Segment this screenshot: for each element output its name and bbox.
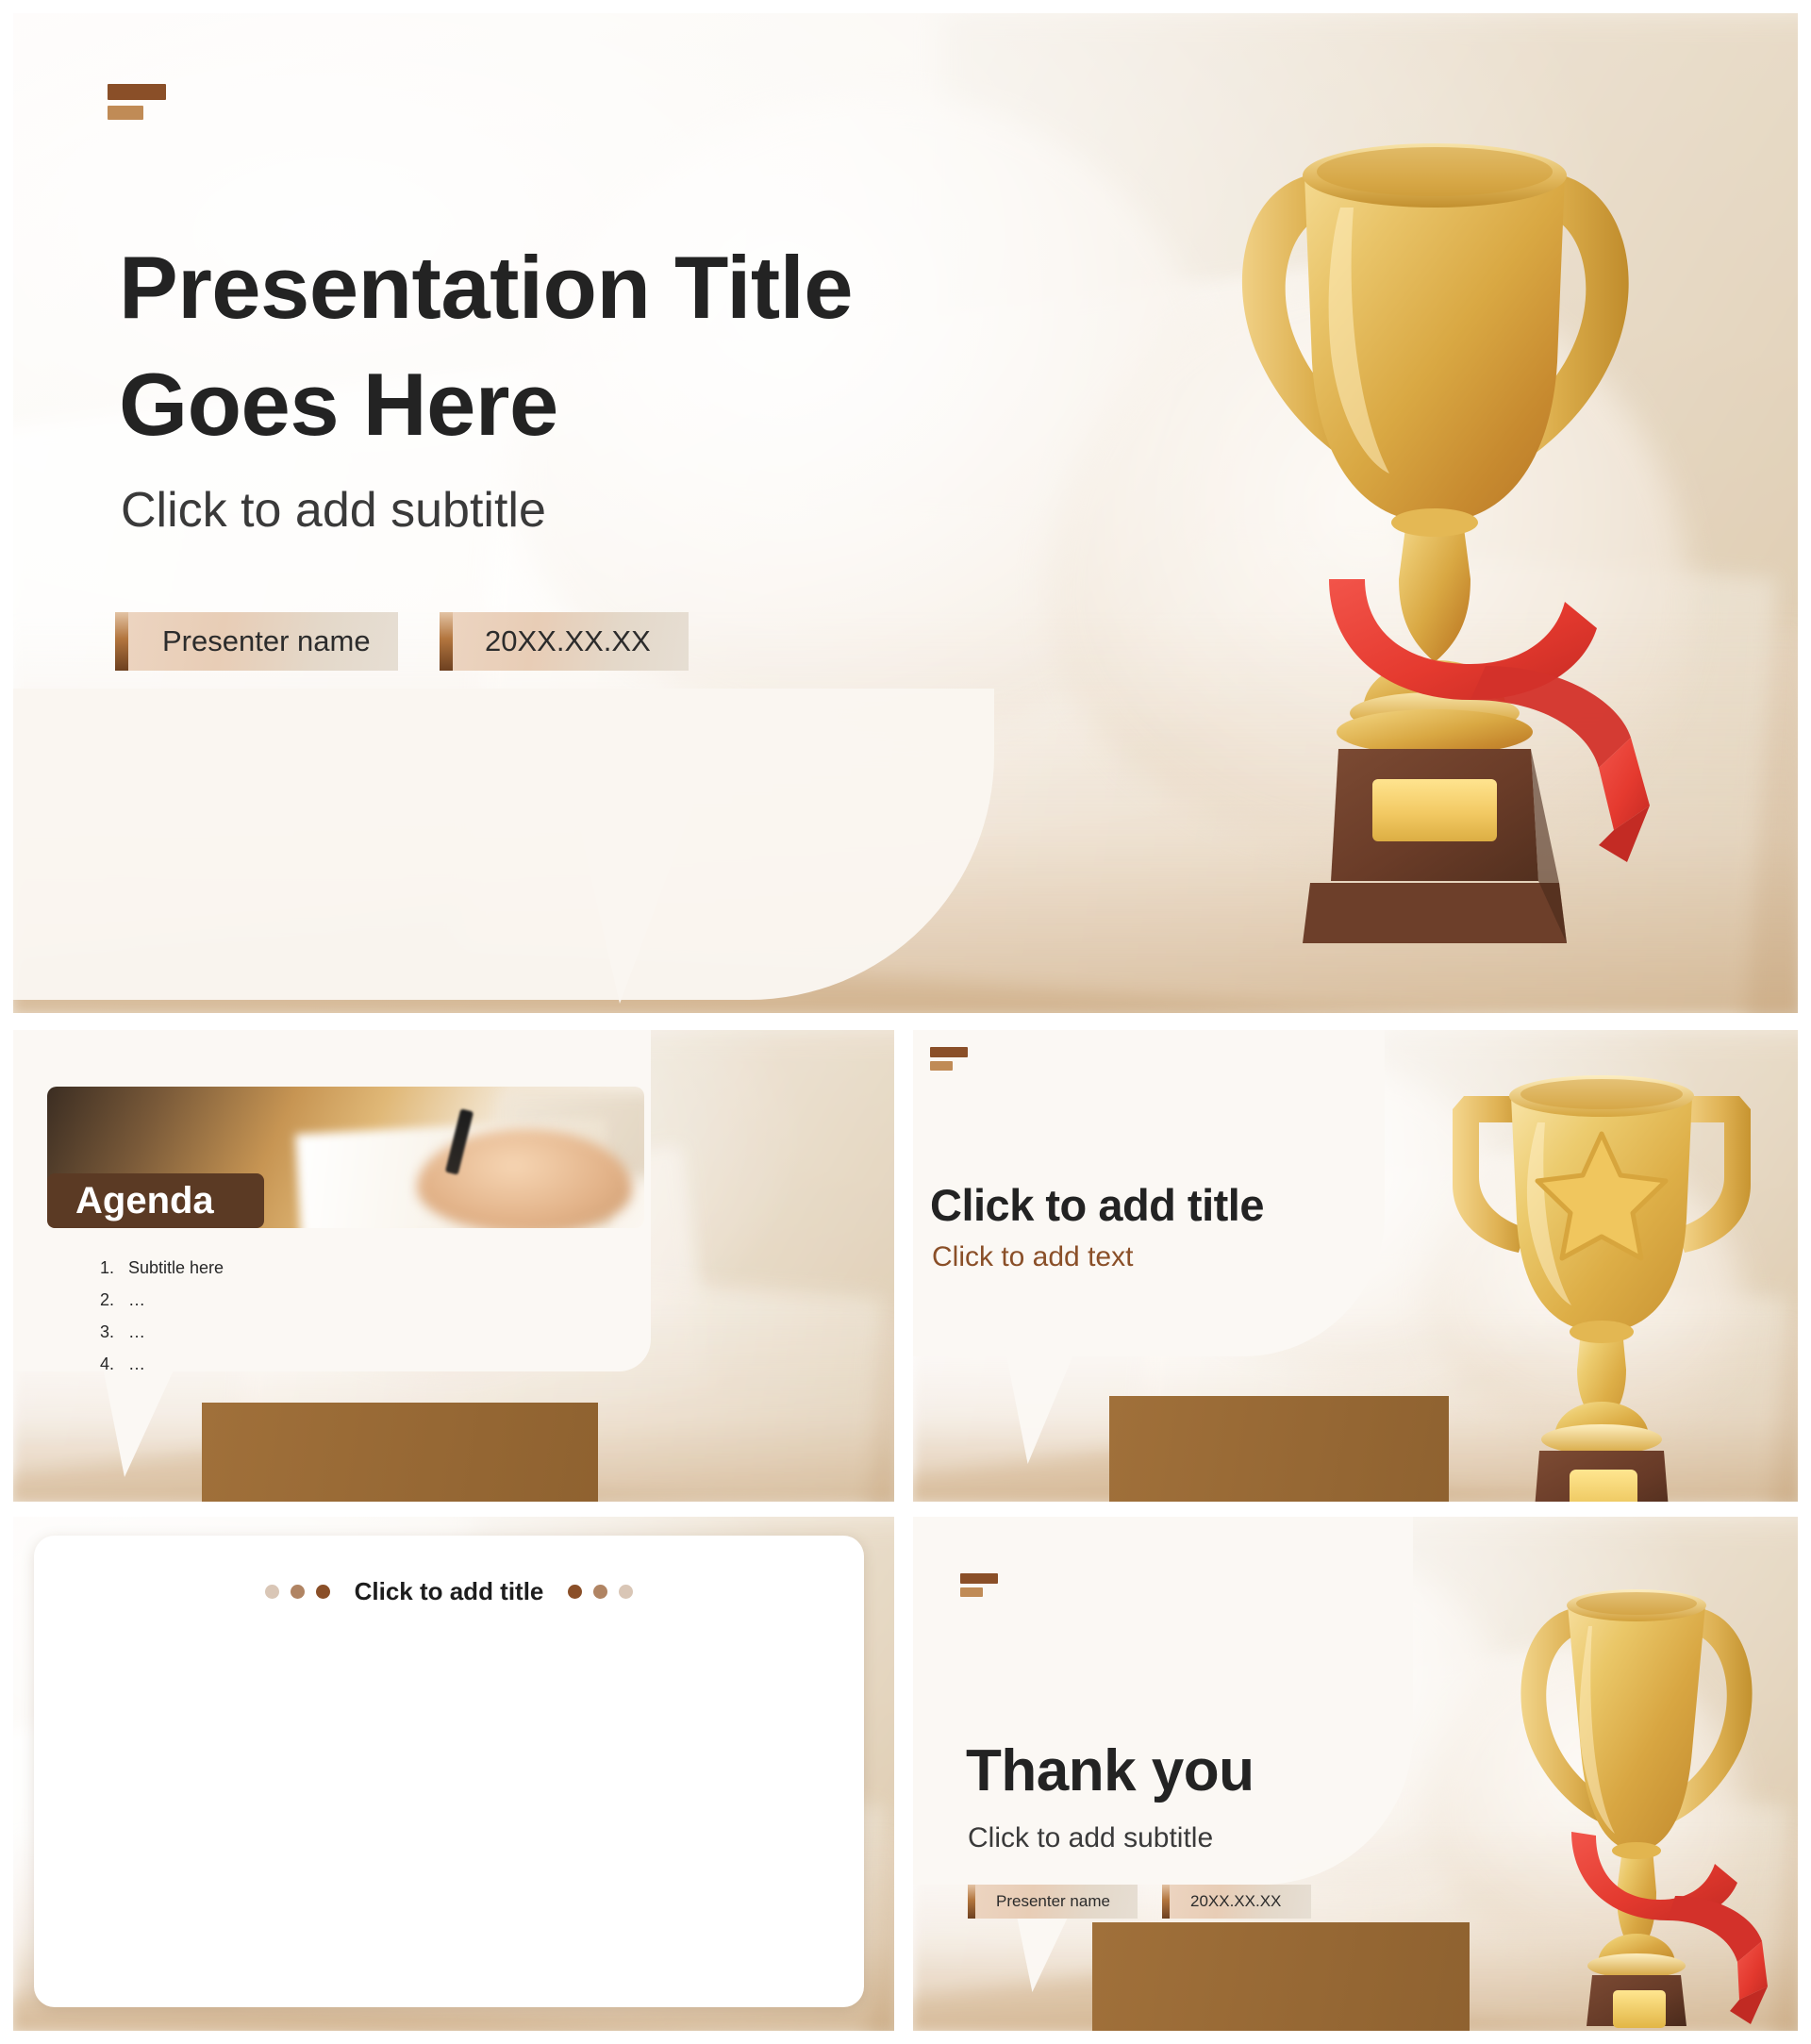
brand-logo-mark [108, 84, 175, 127]
badge-date: 20XX.XX.XX [1162, 1885, 1311, 1919]
agenda-list-item[interactable]: 4. … [100, 1355, 224, 1372]
card-header: Click to add title [34, 1577, 864, 1606]
slide-card[interactable]: Click to add title [13, 1517, 894, 2031]
dot-medium-icon [291, 1585, 305, 1599]
content-brown-panel [1109, 1396, 1449, 1502]
dot-light-icon [265, 1585, 279, 1599]
agenda-list-item[interactable]: 3. … [100, 1323, 224, 1340]
hero-title-line1: Presentation Title [119, 241, 853, 334]
dots-left [265, 1585, 330, 1599]
dot-light-icon [619, 1585, 633, 1599]
agenda-tag: Agenda [47, 1173, 264, 1228]
content-title: Click to add title [930, 1183, 1264, 1229]
hero-badges: Presenter name 20XX.XX.XX [115, 612, 689, 671]
badge-date-label: 20XX.XX.XX [1170, 1885, 1311, 1919]
gold-trophy-icon [1490, 1564, 1783, 2031]
slide-hero[interactable]: Presentation Title Goes Here Click to ad… [13, 13, 1798, 1013]
badge-presenter-name: Presenter name [115, 612, 398, 671]
agenda-item-text: Subtitle here [128, 1259, 224, 1276]
agenda-item-number: 3. [100, 1323, 128, 1340]
brand-logo-mark [930, 1047, 975, 1075]
agenda-item-number: 4. [100, 1355, 128, 1372]
dots-right [568, 1585, 633, 1599]
agenda-item-number: 2. [100, 1291, 128, 1308]
hero-subtitle: Click to add subtitle [121, 482, 546, 539]
dot-dark-icon [316, 1585, 330, 1599]
gold-star-trophy-icon [1413, 1043, 1790, 1502]
agenda-list-item[interactable]: 2. … [100, 1291, 224, 1308]
gold-trophy-icon [1188, 51, 1678, 1013]
dot-dark-icon [568, 1585, 582, 1599]
badge-presenter-name: Presenter name [968, 1885, 1138, 1919]
thanks-brown-panel [1092, 1922, 1470, 2031]
agenda-brown-panel [202, 1403, 598, 1502]
agenda-item-text: … [128, 1355, 145, 1372]
agenda-item-number: 1. [100, 1259, 128, 1276]
content-text: Click to add text [932, 1241, 1133, 1273]
card-title: Click to add title [355, 1577, 544, 1606]
agenda-tag-label: Agenda [75, 1180, 214, 1222]
agenda-item-text: … [128, 1291, 145, 1308]
slide-deck: Presentation Title Goes Here Click to ad… [0, 0, 1811, 2044]
badge-presenter-name-label: Presenter name [128, 612, 398, 671]
content-placeholder-card[interactable]: Click to add title [34, 1536, 864, 2007]
thanks-title: Thank you [966, 1741, 1254, 1802]
hero-brown-panel [466, 820, 1126, 1013]
brand-logo-mark [960, 1573, 1005, 1602]
slide-content[interactable]: Click to add title Click to add text [913, 1030, 1798, 1502]
dot-medium-icon [593, 1585, 607, 1599]
badge-date-label: 20XX.XX.XX [453, 612, 689, 671]
slide-agenda[interactable]: Agenda 1. Subtitle here 2. … 3. … 4. … [13, 1030, 894, 1502]
agenda-item-text: … [128, 1323, 145, 1340]
badge-date: 20XX.XX.XX [440, 612, 689, 671]
thanks-badges: Presenter name 20XX.XX.XX [968, 1885, 1311, 1919]
thanks-subtitle: Click to add subtitle [968, 1822, 1213, 1854]
badge-presenter-name-label: Presenter name [975, 1885, 1138, 1919]
agenda-list-item[interactable]: 1. Subtitle here [100, 1259, 224, 1276]
agenda-list: 1. Subtitle here 2. … 3. … 4. … [100, 1259, 224, 1372]
slide-thanks[interactable]: Thank you Click to add subtitle Presente… [913, 1517, 1798, 2031]
hero-title-line2: Goes Here [119, 358, 558, 451]
